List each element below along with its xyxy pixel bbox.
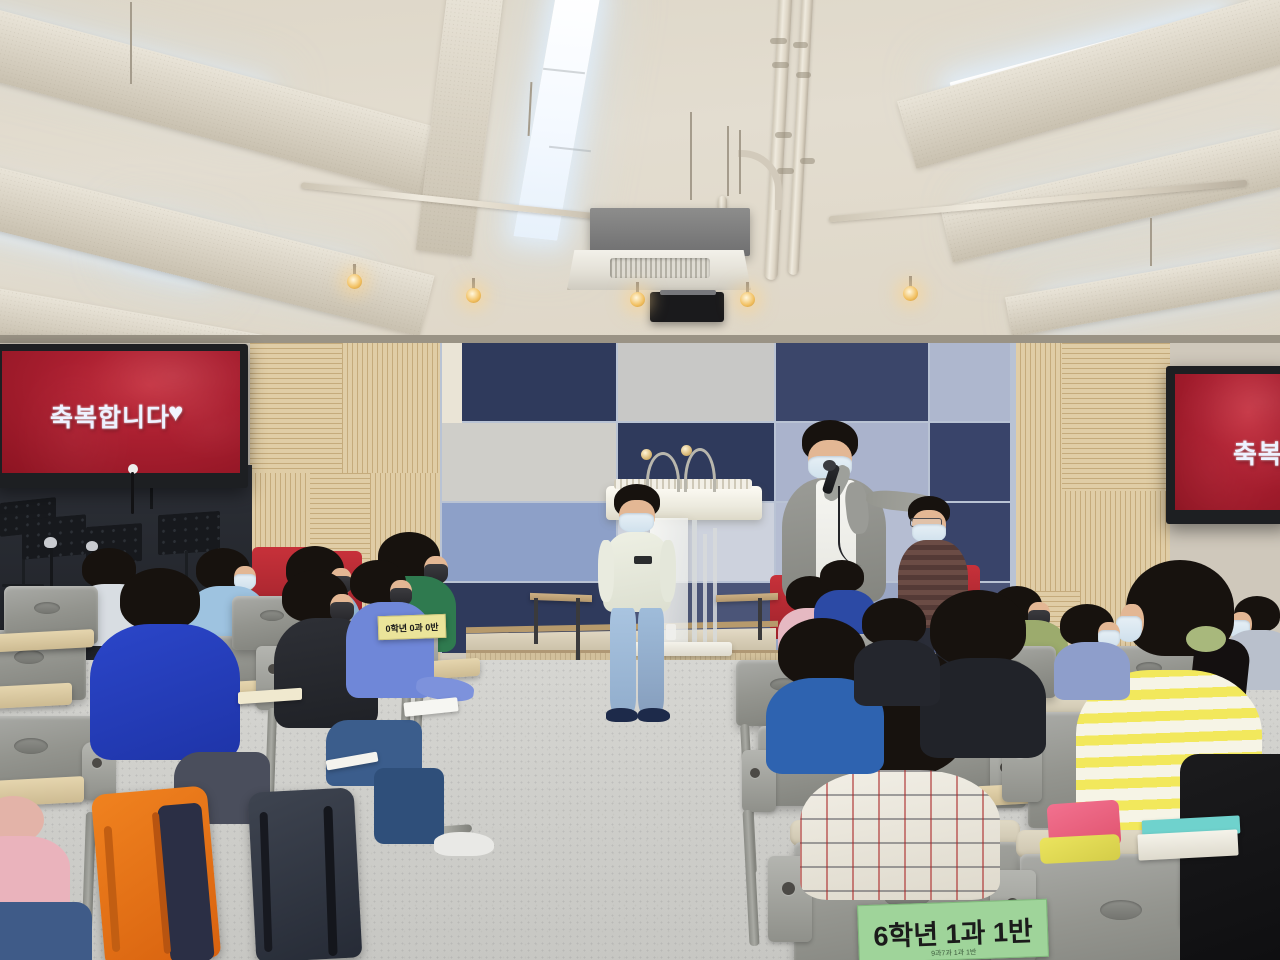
- class-sign-green: 6학년 1과 1반 9과7과 1과 1반: [857, 899, 1049, 960]
- acoustic-panel: [442, 423, 616, 501]
- face-mask: [619, 513, 654, 533]
- acoustic-panel: [618, 343, 774, 421]
- paper-stack: [1137, 829, 1238, 860]
- yellow-pouch: [1039, 834, 1120, 864]
- acoustic-panel: [462, 343, 616, 421]
- ac-unit-housing: [590, 208, 750, 256]
- spotlight-3: [740, 292, 755, 307]
- left-slide-text: 축복합니다: [50, 398, 170, 434]
- left-tv-bezel: 축복합니다 ♥: [0, 344, 248, 488]
- left-tv-screen[interactable]: 축복합니다 ♥: [2, 351, 240, 473]
- right-tv-bezel: 축복합니다: [1166, 366, 1280, 524]
- torso: [800, 770, 1000, 900]
- class-sign-yellow-text: 0학년 0과 0반: [385, 620, 439, 635]
- right-tv-screen[interactable]: 축복합니다: [1175, 374, 1280, 510]
- class-sign-green-text: 6학년 1과 1반: [873, 909, 1034, 954]
- ceiling-light-panel-4: [513, 0, 600, 241]
- auditorium-photo: 축복합니다 ♥ 축복합니다: [0, 0, 1280, 960]
- class-sign-green-subtext: 9과7과 1과 1반: [931, 947, 977, 959]
- ceiling: [0, 0, 1280, 348]
- microphone-capsule-1: [641, 449, 652, 460]
- hair-scrunchie: [1186, 626, 1226, 652]
- acoustic-panel: [442, 503, 616, 581]
- lectern-base: [620, 642, 732, 656]
- ceiling-beam-7: [1005, 240, 1280, 337]
- right-slide-text: 축복합니다: [1233, 434, 1280, 471]
- spotlight-4: [903, 286, 918, 301]
- acoustic-panel: [930, 343, 1010, 421]
- ceiling-beam-1: [0, 0, 481, 207]
- class-sign-yellow: 0학년 0과 0반: [378, 614, 447, 640]
- spotlight-1: [466, 288, 481, 303]
- ac-unit-grille: [610, 258, 710, 278]
- left-slide-heart: ♥: [168, 397, 184, 428]
- spotlight-2: [630, 292, 645, 307]
- acoustic-panel: [442, 343, 462, 423]
- acoustic-panel: [930, 423, 1010, 501]
- acoustic-panel: [776, 343, 928, 421]
- projector: [650, 292, 724, 322]
- microphone-capsule-2: [681, 445, 692, 456]
- spotlight-5: [347, 274, 362, 289]
